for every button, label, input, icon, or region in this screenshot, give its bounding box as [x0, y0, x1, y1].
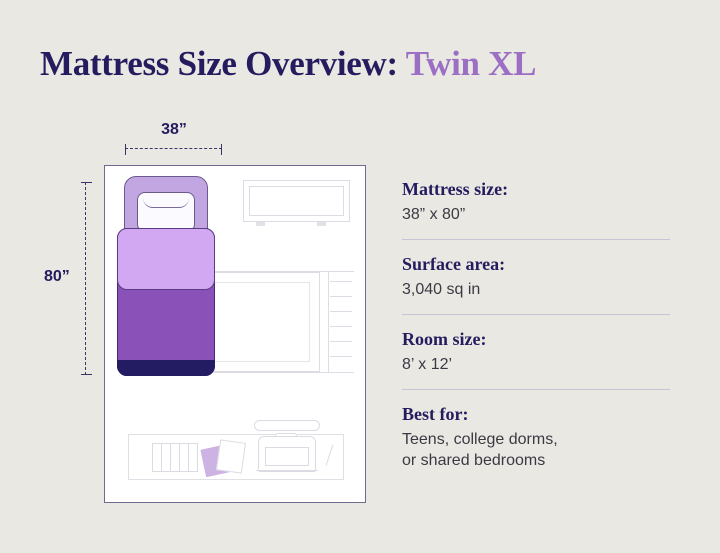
printer-shelf-icon [254, 420, 320, 431]
ladder-rail-icon [328, 271, 329, 373]
spec-value-room-size: 8’ x 12’ [402, 354, 670, 376]
width-dimension-line [125, 148, 222, 149]
ladder-rung-icon [330, 296, 352, 297]
spec-item-room-size: Room size: 8’ x 12’ [402, 328, 670, 375]
spec-divider [402, 314, 670, 315]
paper-white-icon [216, 439, 246, 473]
spec-value-mattress-size: 38” x 80” [402, 204, 670, 226]
ladder-shelf-icon [328, 271, 354, 373]
dresser-foot-right-icon [317, 222, 326, 226]
spec-value-best-for: Teens, college dorms, or shared bedrooms [402, 429, 670, 472]
width-dimension-label: 38” [125, 121, 223, 139]
ladder-rung-icon [330, 311, 352, 312]
spec-item-mattress-size: Mattress size: 38” x 80” [402, 178, 670, 225]
spec-label-surface-area: Surface area: [402, 253, 670, 276]
book-spine-icon [161, 443, 162, 472]
printer-base-icon [256, 470, 318, 471]
mattress-foot-band-icon [117, 360, 215, 376]
spec-item-surface-area: Surface area: 3,040 sq in [402, 253, 670, 300]
spec-label-mattress-size: Mattress size: [402, 178, 670, 201]
books-icon [152, 443, 198, 472]
printer-tray-icon [265, 447, 309, 466]
spec-divider [402, 389, 670, 390]
spec-list: Mattress size: 38” x 80” Surface area: 3… [402, 178, 670, 472]
dresser-foot-left-icon [256, 222, 265, 226]
pillow-crease-icon [143, 198, 189, 208]
book-spine-icon [170, 443, 171, 472]
mattress-diagram: 38” 80” [0, 0, 400, 553]
page-title-accent: Twin XL [406, 44, 536, 83]
ladder-rung-icon [330, 281, 352, 282]
ladder-rung-icon [330, 356, 352, 357]
ladder-rung-icon [330, 326, 352, 327]
spec-item-best-for: Best for: Teens, college dorms, or share… [402, 403, 670, 472]
spec-divider [402, 239, 670, 240]
spec-label-room-size: Room size: [402, 328, 670, 351]
book-spine-icon [188, 443, 189, 472]
ladder-rung-icon [330, 341, 352, 342]
height-dimension-line [85, 182, 86, 375]
blanket-icon [117, 228, 215, 290]
spec-value-surface-area: 3,040 sq in [402, 279, 670, 301]
book-spine-icon [179, 443, 180, 472]
dresser-drawer-icon [249, 186, 344, 216]
height-dimension-label: 80” [44, 268, 70, 286]
spec-label-best-for: Best for: [402, 403, 670, 426]
